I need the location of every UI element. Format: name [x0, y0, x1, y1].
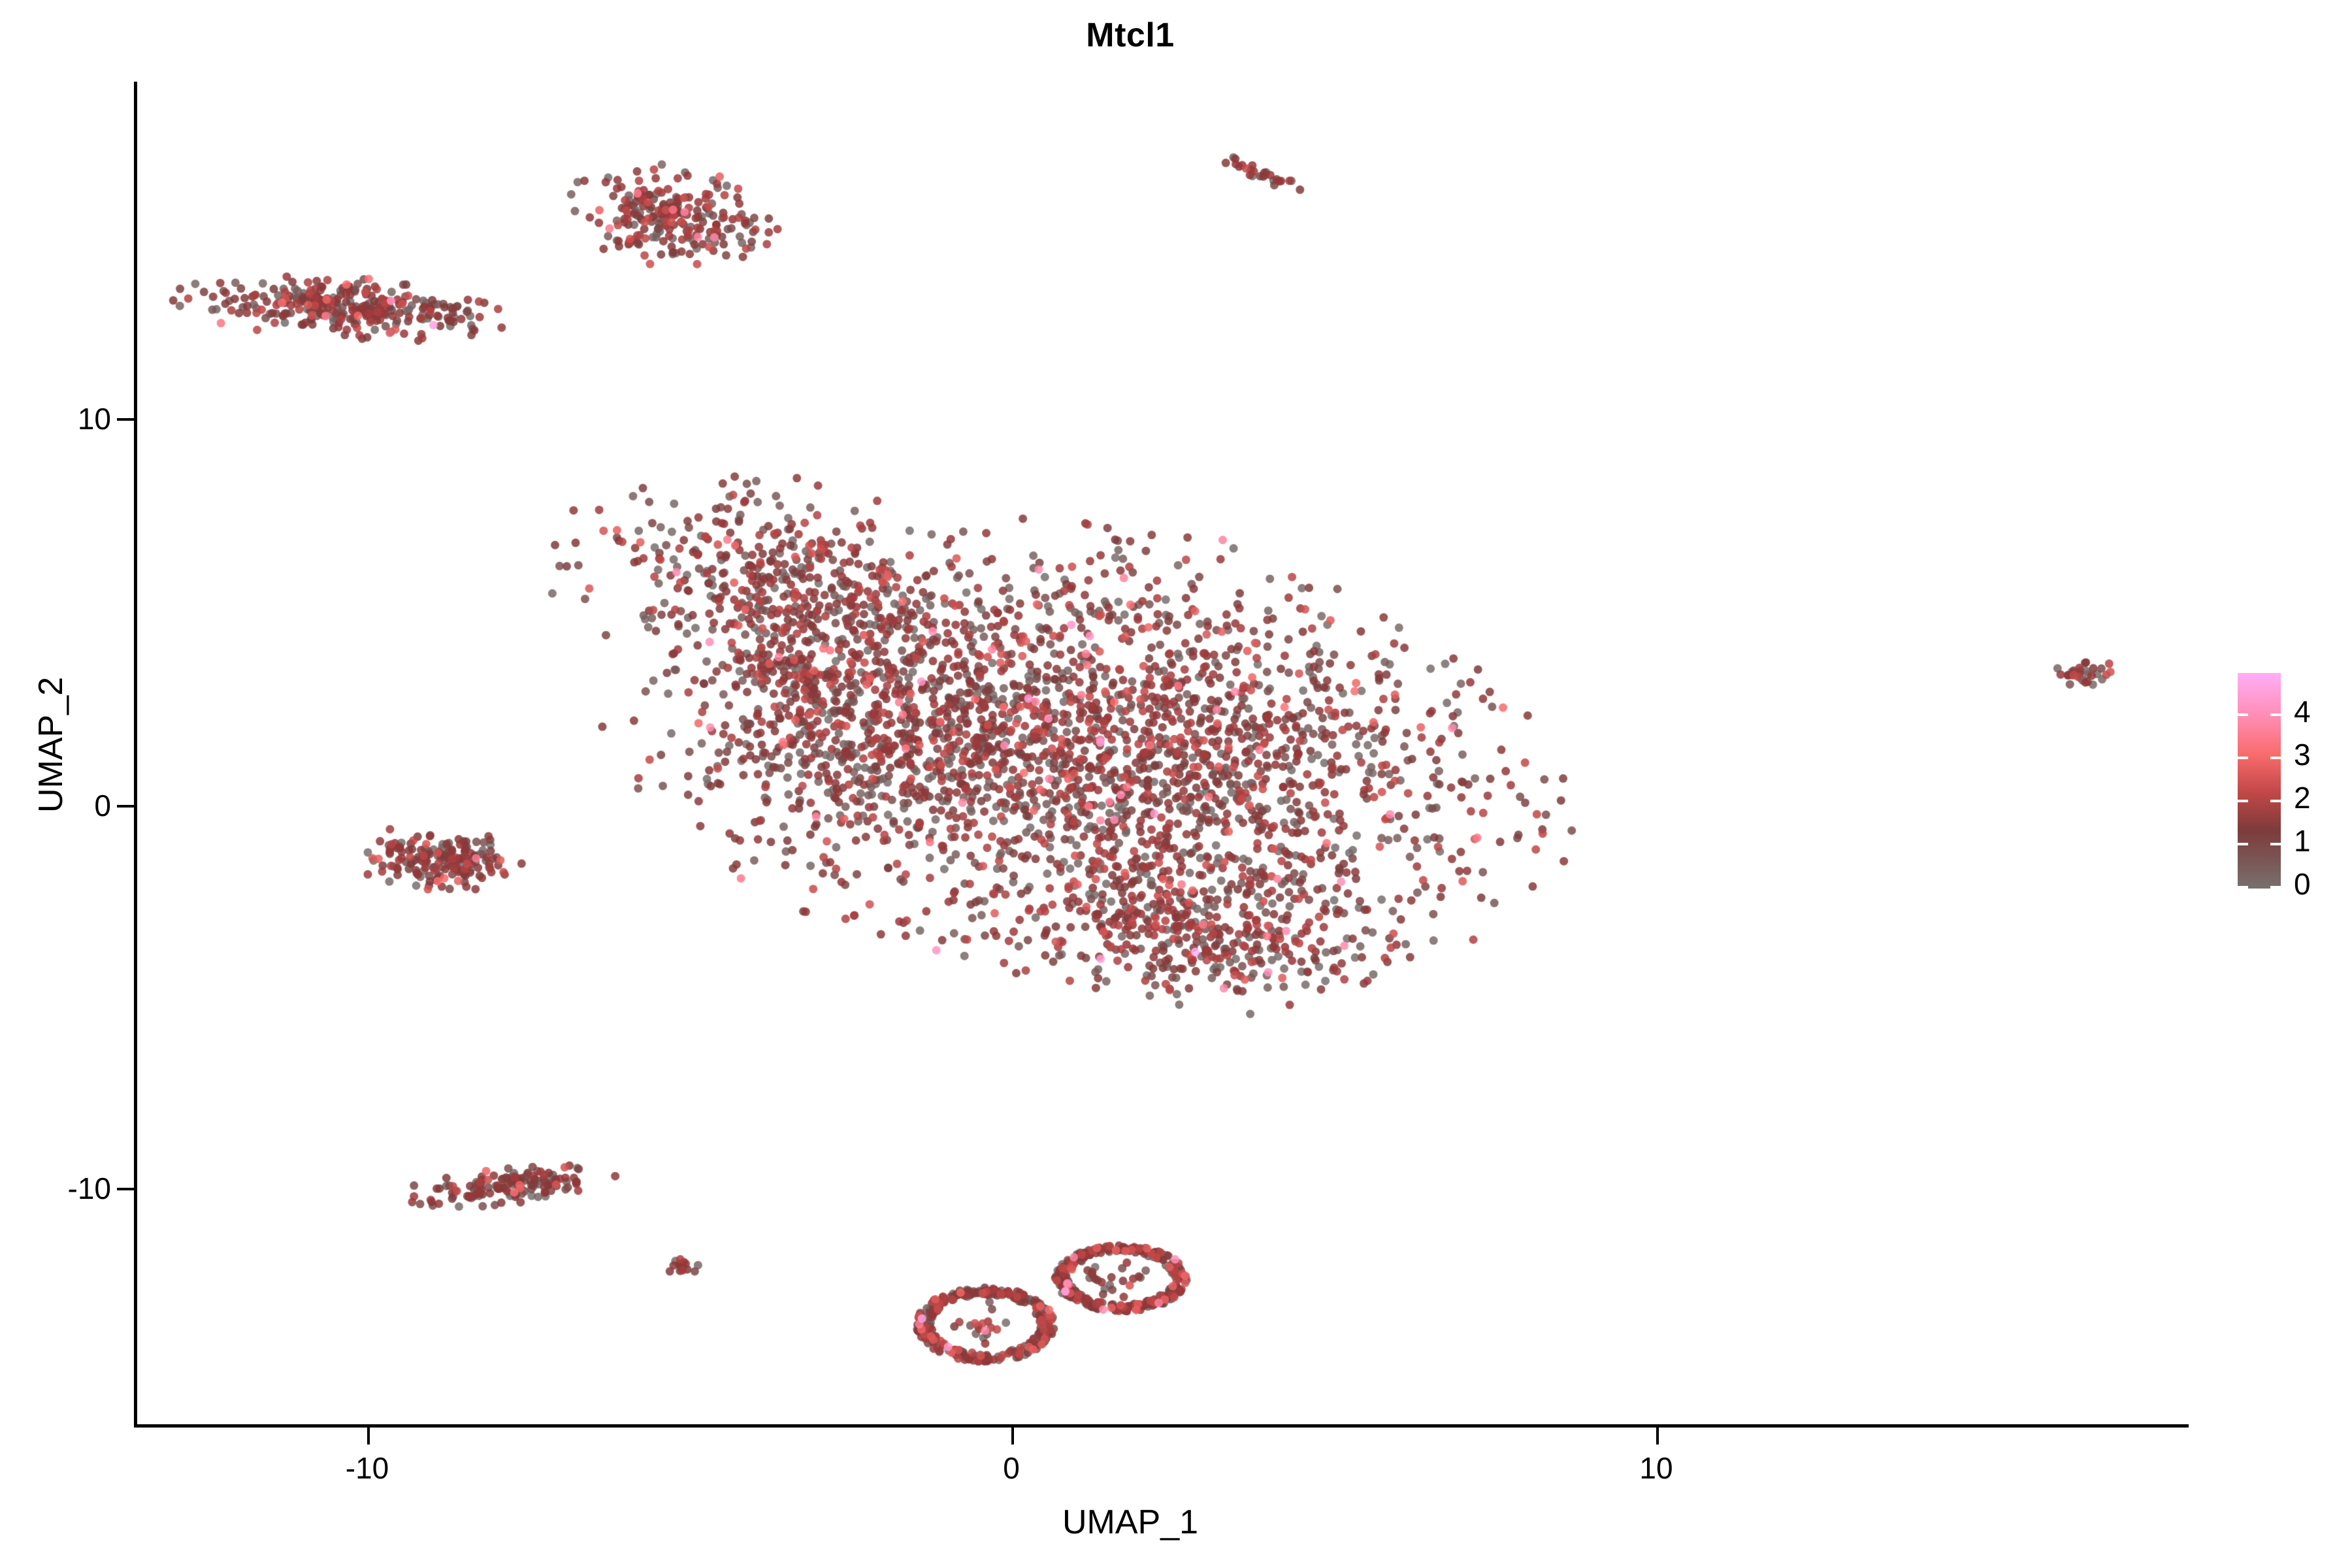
x-tick-mark-0 — [1011, 1428, 1014, 1445]
y-tick-mark-10 — [117, 418, 134, 421]
colorbar-tick-4-left — [2238, 713, 2248, 716]
colorbar-tick-3-right — [2270, 757, 2281, 759]
x-tick-mark-minus10 — [367, 1428, 370, 1445]
colorbar-tick-2-right — [2270, 800, 2281, 802]
y-tick-label-minus10: -10 — [0, 1171, 111, 1206]
y-tick-label-10: 10 — [0, 401, 111, 436]
colorbar-label-1: 1 — [2294, 826, 2311, 856]
colorbar-tick-1-right — [2270, 843, 2281, 845]
plot-panel — [134, 82, 2189, 1421]
colorbar-tick-0-right — [2270, 886, 2281, 889]
colorbar-label-0: 0 — [2294, 869, 2311, 899]
scatter-points-canvas — [0, 0, 2352, 1568]
y-tick-mark-minus10 — [117, 1188, 134, 1190]
umap-feature-plot: Mtcl1 10 0 -10 -10 0 10 UMAP_2 UMAP_1 4 … — [0, 0, 2352, 1568]
x-tick-label-10: 10 — [1591, 1450, 1722, 1486]
colorbar-tick-1-left — [2238, 843, 2248, 845]
colorbar-tick-0-left — [2238, 886, 2248, 889]
x-tick-mark-10 — [1656, 1428, 1659, 1445]
x-tick-label-0: 0 — [946, 1450, 1077, 1486]
colorbar-label-4: 4 — [2294, 696, 2311, 727]
colorbar-label-2: 2 — [2294, 783, 2311, 813]
colorbar-tick-3-left — [2238, 757, 2248, 759]
colorbar-label-3: 3 — [2294, 740, 2311, 770]
colorbar-tick-2-left — [2238, 800, 2248, 802]
y-axis-title: UMAP_2 — [31, 549, 71, 941]
colorbar-gradient — [2238, 673, 2281, 889]
x-tick-label-minus10: -10 — [302, 1450, 433, 1486]
x-axis-line — [134, 1424, 2189, 1428]
y-tick-mark-0 — [117, 805, 134, 808]
y-axis-line — [134, 82, 137, 1428]
x-axis-title: UMAP_1 — [91, 1503, 2169, 1542]
colorbar-tick-4-right — [2270, 713, 2281, 716]
